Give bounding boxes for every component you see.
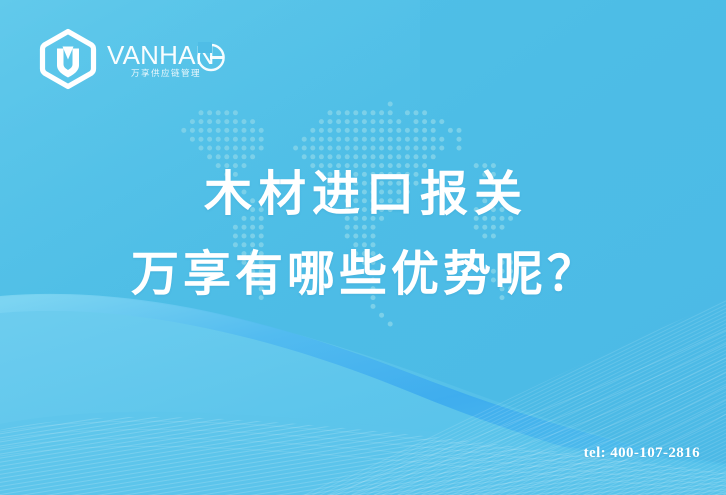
logo-wordmark: VANHAN 万享供应链管理 bbox=[107, 37, 229, 81]
poster-canvas: VANHAN 万享供应链管理 木材进口报关 万享有哪些优势呢？ tel: 400… bbox=[0, 0, 726, 495]
contact-telephone: tel: 400-107-2816 bbox=[584, 445, 700, 462]
headline-line-1: 木材进口报关 bbox=[0, 166, 726, 224]
headline-block: 木材进口报关 万享有哪些优势呢？ bbox=[0, 166, 726, 304]
svg-text:万享供应链管理: 万享供应链管理 bbox=[131, 67, 201, 79]
vanhang-hexagon-mark bbox=[38, 28, 98, 90]
headline-line-2: 万享有哪些优势呢？ bbox=[0, 246, 726, 304]
brand-logo[interactable]: VANHAN 万享供应链管理 bbox=[38, 28, 229, 90]
